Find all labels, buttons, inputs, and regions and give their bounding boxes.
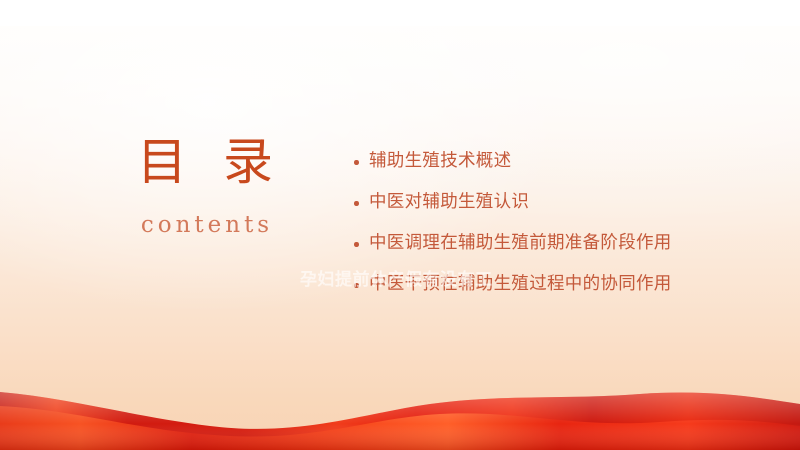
page-title: 目 录 [70, 134, 340, 190]
list-item[interactable]: 辅助生殖技术概述 [352, 144, 724, 179]
bullet-dot-icon [354, 242, 359, 247]
list-item[interactable]: 中医调理在辅助生殖前期准备阶段作用 [352, 226, 724, 261]
bullet-dot-icon [354, 160, 359, 165]
toc-title-block: 目 录 contents [70, 134, 340, 238]
page-subtitle: contents [70, 212, 340, 238]
list-item[interactable]: 中医干预在辅助生殖过程中的协同作用 [352, 267, 724, 302]
bullet-dot-icon [354, 201, 359, 206]
presentation-slide: 目 录 contents 辅助生殖技术概述 中医对辅助生殖认识 中医调理在辅助生… [0, 0, 800, 450]
toc-list: 辅助生殖技术概述 中医对辅助生殖认识 中医调理在辅助生殖前期准备阶段作用 中医干… [352, 144, 724, 308]
list-item-label: 中医对辅助生殖认识 [369, 192, 529, 212]
bullet-dot-icon [354, 283, 359, 288]
list-item-label: 中医调理在辅助生殖前期准备阶段作用 [369, 233, 672, 253]
list-item[interactable]: 中医对辅助生殖认识 [352, 185, 724, 220]
list-item-label: 辅助生殖技术概述 [369, 151, 511, 171]
red-ribbon-decoration [0, 370, 800, 450]
slide-canvas: 目 录 contents 辅助生殖技术概述 中医对辅助生殖认识 中医调理在辅助生… [0, 26, 800, 450]
list-item-label: 中医干预在辅助生殖过程中的协同作用 [369, 274, 672, 294]
